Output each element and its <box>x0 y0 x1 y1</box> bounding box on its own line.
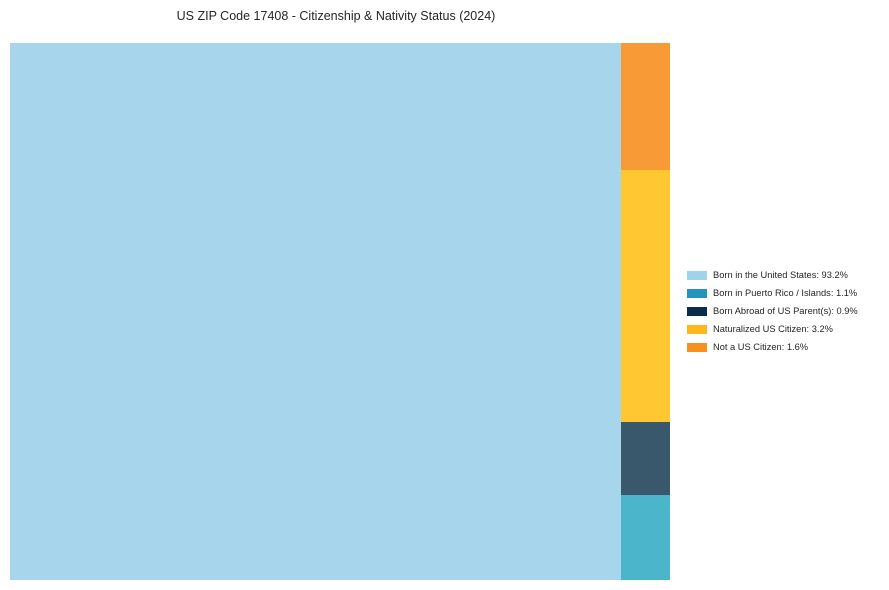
legend-item[interactable]: Born Abroad of US Parent(s): 0.9% <box>687 302 883 320</box>
legend-item-label: Naturalized US Citizen: 3.2% <box>713 324 833 335</box>
legend-color-swatch <box>687 325 707 334</box>
legend-color-swatch <box>687 271 707 280</box>
treemap-tile[interactable]: Born Abroad of US Parent(s) <box>621 422 670 495</box>
legend-item-label: Born in Puerto Rico / Islands: 1.1% <box>713 288 857 299</box>
treemap-tile[interactable]: Born in the United States <box>10 43 621 580</box>
legend-item-label: Not a US Citizen: 1.6% <box>713 342 808 353</box>
treemap-tile[interactable]: Not a US Citizen <box>621 43 670 170</box>
chart-legend: Born in the United States: 93.2%Born in … <box>687 266 883 356</box>
legend-item[interactable]: Born in Puerto Rico / Islands: 1.1% <box>687 284 883 302</box>
legend-item-label: Born Abroad of US Parent(s): 0.9% <box>713 306 858 317</box>
legend-color-swatch <box>687 307 707 316</box>
treemap-tile[interactable]: Born in Puerto Rico / Islands <box>621 495 670 580</box>
treemap-plot-area: Born in the United StatesNot a US Citize… <box>10 43 670 580</box>
legend-item[interactable]: Born in the United States: 93.2% <box>687 266 883 284</box>
legend-item-label: Born in the United States: 93.2% <box>713 270 848 281</box>
treemap-figure: US ZIP Code 17408 - Citizenship & Nativi… <box>0 0 889 590</box>
treemap-tile[interactable]: Naturalized US Citizen <box>621 170 670 422</box>
chart-title: US ZIP Code 17408 - Citizenship & Nativi… <box>0 9 672 23</box>
legend-item[interactable]: Naturalized US Citizen: 3.2% <box>687 320 883 338</box>
legend-color-swatch <box>687 343 707 352</box>
legend-color-swatch <box>687 289 707 298</box>
legend-item[interactable]: Not a US Citizen: 1.6% <box>687 338 883 356</box>
